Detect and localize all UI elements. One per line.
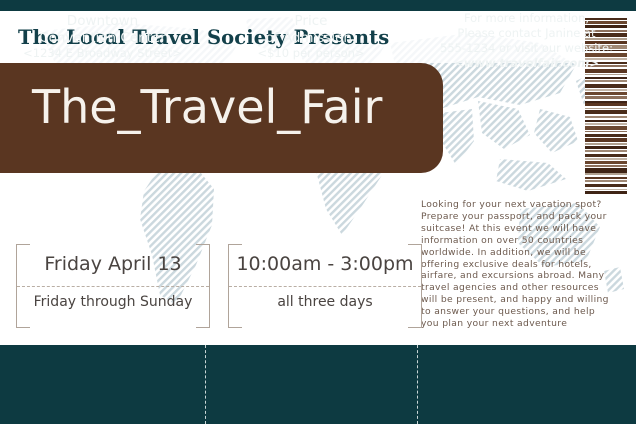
event-hours-note: all three days — [228, 294, 422, 310]
footer-divider-left — [205, 345, 206, 424]
price-line-1: Price — [205, 13, 417, 30]
date-box: Friday April 13 Friday through Sunday — [16, 244, 210, 328]
price-line-2: of Admission: — [205, 30, 417, 47]
footer-venue: Downtown Convention Center <1234 E Broad… — [0, 0, 205, 79]
contact-phone: 555-1234 or visit our website: — [417, 41, 636, 56]
corner-bracket-bottom-left — [228, 314, 242, 328]
barcode-bar — [585, 191, 627, 194]
footer-band — [0, 345, 636, 424]
price-amount: <$10 per person> — [205, 46, 417, 61]
footer-contact: For more information, Please contact Jan… — [417, 0, 636, 79]
footer-price: Price of Admission: <$10 per person> — [205, 0, 417, 79]
event-date: Friday April 13 — [16, 253, 210, 275]
contact-line-1: For more information, — [417, 11, 636, 26]
venue-address: <1234 E Broadway Street> — [0, 46, 205, 61]
corner-bracket-bottom-right — [408, 314, 422, 328]
event-hours: 10:00am - 3:00pm — [228, 253, 422, 275]
venue-line-1: Downtown — [0, 13, 205, 30]
contact-line-2: Please contact Janine at — [417, 26, 636, 41]
date-box-divider — [17, 286, 209, 287]
time-box-divider — [229, 286, 421, 287]
event-date-range: Friday through Sunday — [16, 294, 210, 310]
corner-bracket-bottom-left — [16, 314, 30, 328]
contact-website[interactable]: <www.travelfair.com> — [417, 56, 636, 71]
time-box: 10:00am - 3:00pm all three days — [228, 244, 422, 328]
venue-line-2: Convention Center — [0, 30, 205, 47]
corner-bracket-bottom-right — [196, 314, 210, 328]
travel-fair-ticket: The Local Travel Society Presents The_Tr… — [0, 0, 636, 424]
event-name: The_Travel_Fair — [32, 84, 382, 130]
footer-divider-right — [417, 345, 418, 424]
event-description: Looking for your next vacation spot? Pre… — [421, 199, 611, 330]
